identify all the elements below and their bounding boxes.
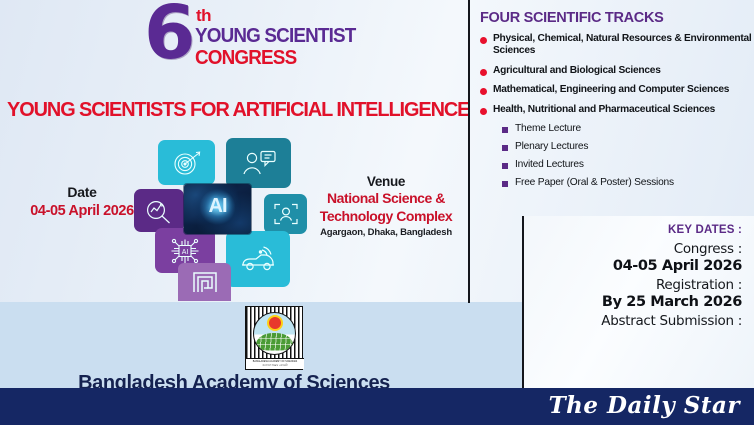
track-label: Physical, Chemical, Natural Resources & …	[493, 33, 752, 58]
venue-name-line2: Technology Complex	[310, 209, 462, 225]
date-block: Date 04-05 April 2026	[14, 184, 150, 219]
key-date-value: 04-05 April 2026	[523, 258, 742, 274]
venue-block: Venue National Science & Technology Comp…	[310, 174, 462, 238]
key-dates-title: KEY DATES :	[523, 224, 742, 236]
target-icon	[158, 140, 215, 185]
field-icon	[256, 333, 293, 351]
bullet-dot-icon	[480, 108, 487, 115]
track-item: Physical, Chemical, Natural Resources & …	[480, 33, 752, 58]
maze-icon	[178, 263, 231, 301]
venue-name-line1: National Science &	[310, 191, 462, 207]
session-label: Free Paper (Oral & Poster) Sessions	[515, 177, 674, 188]
key-dates-panel: KEY DATES : Congress : 04-05 April 2026 …	[523, 216, 754, 388]
edition-ordinal: th	[196, 6, 211, 26]
venue-address: Agargaon, Dhaka, Bangladesh	[310, 227, 462, 238]
edition-number: 6	[144, 0, 194, 70]
session-item: Free Paper (Oral & Poster) Sessions	[502, 177, 752, 188]
bullet-square-icon	[502, 145, 508, 151]
bullet-square-icon	[502, 127, 508, 133]
keydates-divider-line	[522, 216, 524, 388]
track-label: Mathematical, Engineering and Computer S…	[493, 84, 729, 96]
bullet-dot-icon	[480, 37, 487, 44]
key-date-label: Registration :	[523, 277, 742, 293]
track-label: Health, Nutritional and Pharmaceutical S…	[493, 104, 715, 116]
svg-text:AI: AI	[182, 249, 189, 256]
person-chat-icon	[226, 138, 291, 188]
session-item: Theme Lecture	[502, 123, 752, 134]
session-item: Invited Lectures	[502, 159, 752, 170]
logo-emblem	[253, 312, 296, 355]
bangladesh-academy-logo: BANGLADESH ACADEMY OF SCIENCES বাংলাদেশ …	[245, 306, 303, 378]
key-date-label: Congress :	[523, 241, 742, 257]
logo-caption: BANGLADESH ACADEMY OF SCIENCES বাংলাদেশ …	[246, 358, 304, 369]
bullet-square-icon	[502, 163, 508, 169]
track-item: Mathematical, Engineering and Computer S…	[480, 84, 752, 96]
ai-hologram-image: AI	[184, 184, 251, 234]
bullet-dot-icon	[480, 88, 487, 95]
congress-logo: 6 th YOUNG SCIENTIST CONGRESS	[140, 2, 370, 90]
congress-title-line2: CONGRESS	[195, 46, 296, 70]
publisher-bar: The Daily Star	[0, 388, 754, 425]
session-label: Plenary Lectures	[515, 141, 588, 152]
session-label: Invited Lectures	[515, 159, 584, 170]
poster-tagline: YOUNG SCIENTISTS FOR ARTIFICIAL INTELLIG…	[7, 98, 461, 122]
congress-title-line1: YOUNG SCIENTIST	[195, 24, 355, 48]
ai-label: AI	[209, 195, 227, 218]
sun-icon	[269, 317, 281, 329]
daily-star-logo: The Daily Star	[549, 392, 740, 419]
tracks-title: FOUR SCIENTIFIC TRACKS	[480, 10, 752, 26]
bullet-square-icon	[502, 181, 508, 187]
logo-frame: BANGLADESH ACADEMY OF SCIENCES বাংলাদেশ …	[245, 306, 303, 370]
track-item: Health, Nutritional and Pharmaceutical S…	[480, 104, 752, 116]
face-scan-icon	[264, 194, 307, 234]
track-item: Agricultural and Biological Sciences	[480, 65, 752, 77]
venue-label: Venue	[310, 174, 462, 189]
track-label: Agricultural and Biological Sciences	[493, 65, 661, 77]
column-divider-line	[468, 0, 470, 303]
ai-icon-collage: AI	[125, 132, 325, 292]
key-date-value: By 25 March 2026	[523, 294, 742, 310]
poster-left-column: 6 th YOUNG SCIENTIST CONGRESS YOUNG SCIE…	[0, 0, 468, 302]
date-label: Date	[14, 184, 150, 200]
bullet-dot-icon	[480, 69, 487, 76]
key-date-label: Abstract Submission :	[523, 313, 742, 329]
autonomous-car-icon	[226, 231, 290, 287]
date-value: 04-05 April 2026	[14, 203, 150, 219]
session-item: Plenary Lectures	[502, 141, 752, 152]
session-label: Theme Lecture	[515, 123, 581, 134]
